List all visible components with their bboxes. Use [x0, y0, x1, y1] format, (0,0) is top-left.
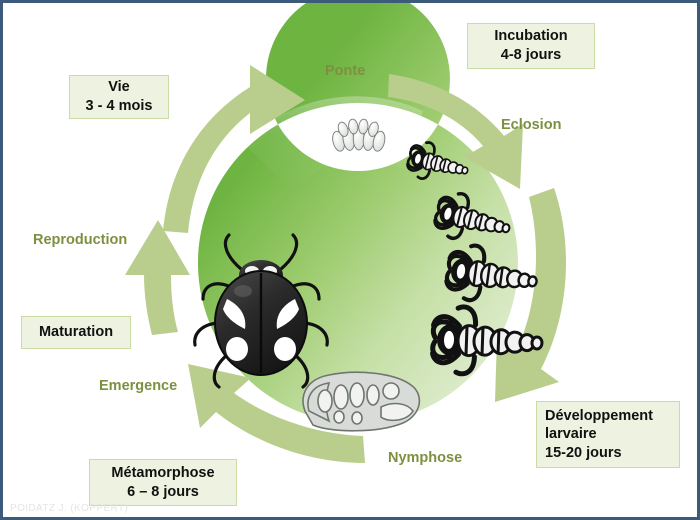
info-box-incubation: Incubation 4-8 jours: [467, 23, 595, 69]
info-box-vie: Vie 3 - 4 mois: [69, 75, 169, 119]
arrow-emergence-reproduction: [125, 220, 190, 335]
info-box-maturation-line1: Maturation: [39, 323, 113, 342]
stage-label-emergence: Emergence: [99, 378, 177, 394]
stage-label-reproduction: Reproduction: [33, 232, 127, 248]
stage-label-eclosion: Eclosion: [501, 117, 561, 133]
info-box-vie-line1: Vie: [108, 78, 130, 97]
info-box-developpement-line3: 15-20 jours: [545, 444, 622, 463]
stage-label-ponte: Ponte: [325, 63, 365, 79]
ladybug-pupa-illustration: [303, 372, 419, 431]
info-box-maturation: Maturation: [21, 316, 131, 349]
credit-watermark: POIDATZ J. (KOPPERT): [10, 503, 128, 514]
info-box-metamorphose-line1: Métamorphose: [111, 464, 214, 483]
info-box-vie-line2: 3 - 4 mois: [86, 97, 153, 116]
info-box-developpement-line2: larvaire: [545, 425, 597, 444]
info-box-developpement-larvaire: Développement larvaire 15-20 jours: [536, 401, 680, 468]
info-box-developpement-line1: Développement: [545, 407, 653, 426]
info-box-incubation-line2: 4-8 jours: [501, 46, 561, 65]
info-box-incubation-line1: Incubation: [494, 27, 567, 46]
stage-label-nymphose: Nymphose: [388, 450, 462, 466]
life-cycle-diagram: Ponte Eclosion Nymphose Emergence Reprod…: [0, 0, 700, 520]
info-box-metamorphose: Métamorphose 6 – 8 jours: [89, 459, 237, 506]
info-box-metamorphose-line2: 6 – 8 jours: [127, 483, 199, 502]
